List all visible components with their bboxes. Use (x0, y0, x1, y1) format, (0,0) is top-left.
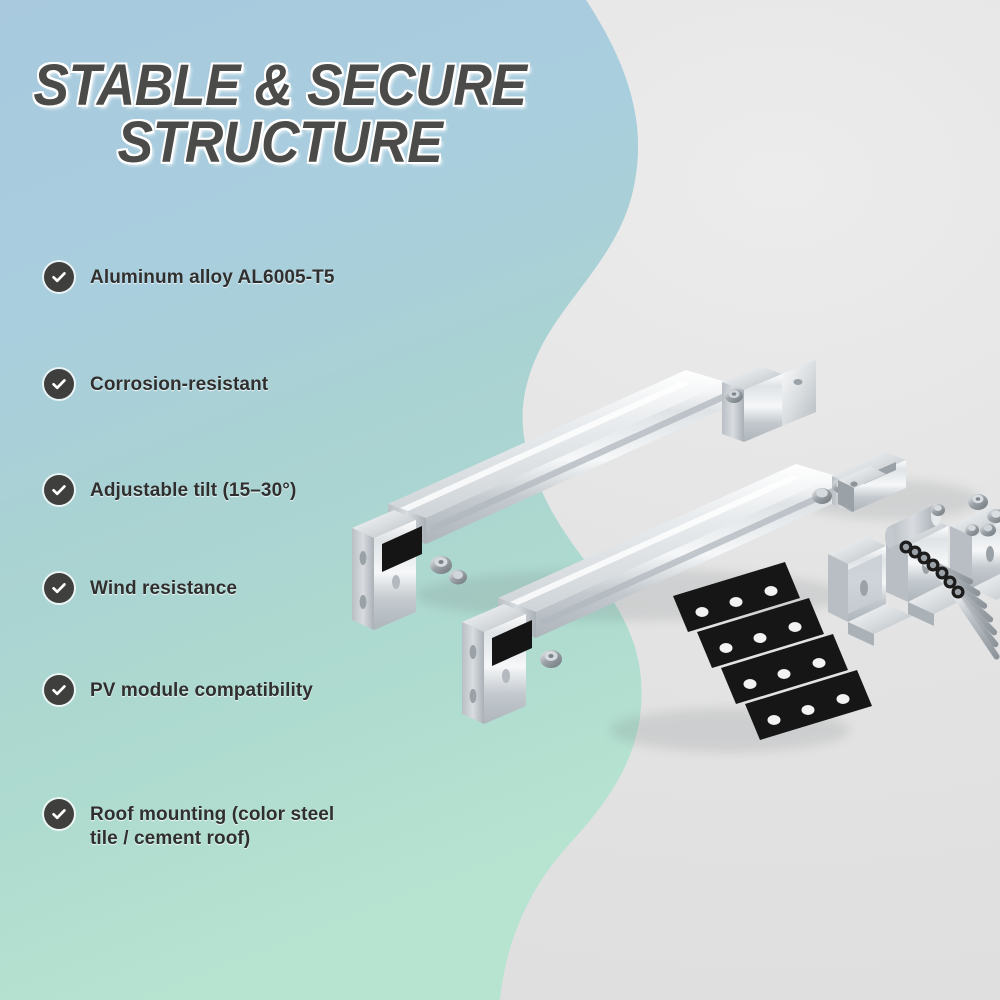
feature-label: Aluminum alloy AL6005-T5 (90, 262, 335, 290)
feature-item-corrosion-resistant: Corrosion-resistant (44, 369, 268, 399)
hex-bolt (540, 650, 562, 668)
feature-item-roof-mounting: Roof mounting (color steel tile / cement… (44, 799, 334, 851)
title-line-1: STABLE & SECURE (33, 53, 526, 118)
check-circle-icon (44, 262, 74, 292)
check-circle-icon (44, 799, 74, 829)
hex-bolt (725, 389, 743, 403)
feature-item-adjustable-tilt: Adjustable tilt (15–30°) (44, 475, 296, 505)
product-image-mounting-bracket-kit (330, 330, 1000, 850)
feature-label: Roof mounting (color steel tile / cement… (90, 799, 334, 851)
check-circle-icon (44, 369, 74, 399)
feature-item-pv-module-compatibility: PV module compatibility (44, 675, 313, 705)
feature-label: Wind resistance (90, 573, 237, 601)
check-circle-icon (44, 475, 74, 505)
feature-label: PV module compatibility (90, 675, 313, 703)
feature-item-wind-resistance: Wind resistance (44, 573, 237, 603)
hex-bolt-nut (968, 494, 988, 510)
page-title: STABLE & SECURE STRUCTURE (22, 58, 537, 172)
feature-label: Adjustable tilt (15–30°) (90, 475, 296, 503)
hex-bolt (965, 524, 979, 536)
feature-label: Corrosion-resistant (90, 369, 268, 397)
hex-bolt-nut (980, 524, 996, 537)
infographic-canvas: STABLE & SECURE STRUCTURE Aluminum alloy… (0, 0, 1000, 1000)
hex-bolt (931, 504, 945, 516)
feature-item-aluminum-alloy: Aluminum alloy AL6005-T5 (44, 262, 335, 292)
title-line-2: STRUCTURE (22, 115, 537, 172)
check-circle-icon (44, 675, 74, 705)
check-circle-icon (44, 573, 74, 603)
hex-bolt (430, 556, 467, 585)
